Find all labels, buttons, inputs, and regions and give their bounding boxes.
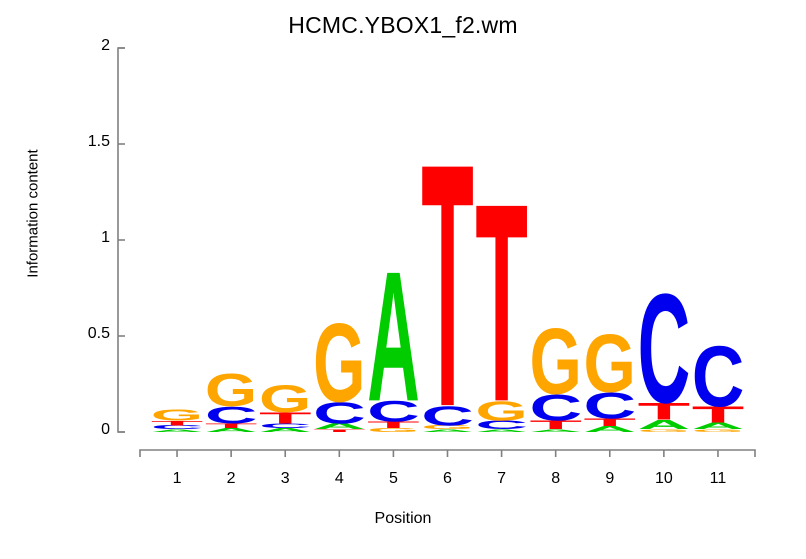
x-tick-label: 8 <box>536 470 576 488</box>
y-tick-label: 1.5 <box>70 133 110 151</box>
x-tick-label: 5 <box>373 470 413 488</box>
logo-letter-g: G <box>259 377 311 421</box>
x-tick-label: 6 <box>428 470 468 488</box>
logo-letter-stacks: ACTGATCGACTGTACGGTCAAGCTACGTATCGATCGGATC… <box>151 91 745 479</box>
x-tick-label: 3 <box>265 470 305 488</box>
x-tick-label: 9 <box>590 470 630 488</box>
logo-letter-t: T <box>421 91 474 479</box>
y-tick-label: 2 <box>70 37 110 55</box>
logo-letter-g: G <box>584 317 636 409</box>
x-tick-label: 11 <box>698 470 738 488</box>
y-tick-label: 0.5 <box>70 325 110 343</box>
x-tick-label: 4 <box>319 470 359 488</box>
x-axis-line <box>140 450 755 457</box>
logo-letter-t: T <box>475 146 528 461</box>
logo-letter-g: G <box>151 406 203 424</box>
x-tick-label: 1 <box>157 470 197 488</box>
x-tick-label: 7 <box>482 470 522 488</box>
logo-letter-a: A <box>367 233 420 440</box>
logo-letter-g: G <box>205 365 257 417</box>
logo-letter-g: G <box>529 310 581 414</box>
logo-letter-c: C <box>692 328 745 424</box>
y-tick-label: 0 <box>70 421 110 439</box>
x-tick-label: 10 <box>644 470 684 488</box>
y-tick-label: 1 <box>70 229 110 247</box>
logo-letter-g: G <box>313 299 365 425</box>
x-tick-label: 2 <box>211 470 251 488</box>
logo-letter-c: C <box>638 261 691 435</box>
